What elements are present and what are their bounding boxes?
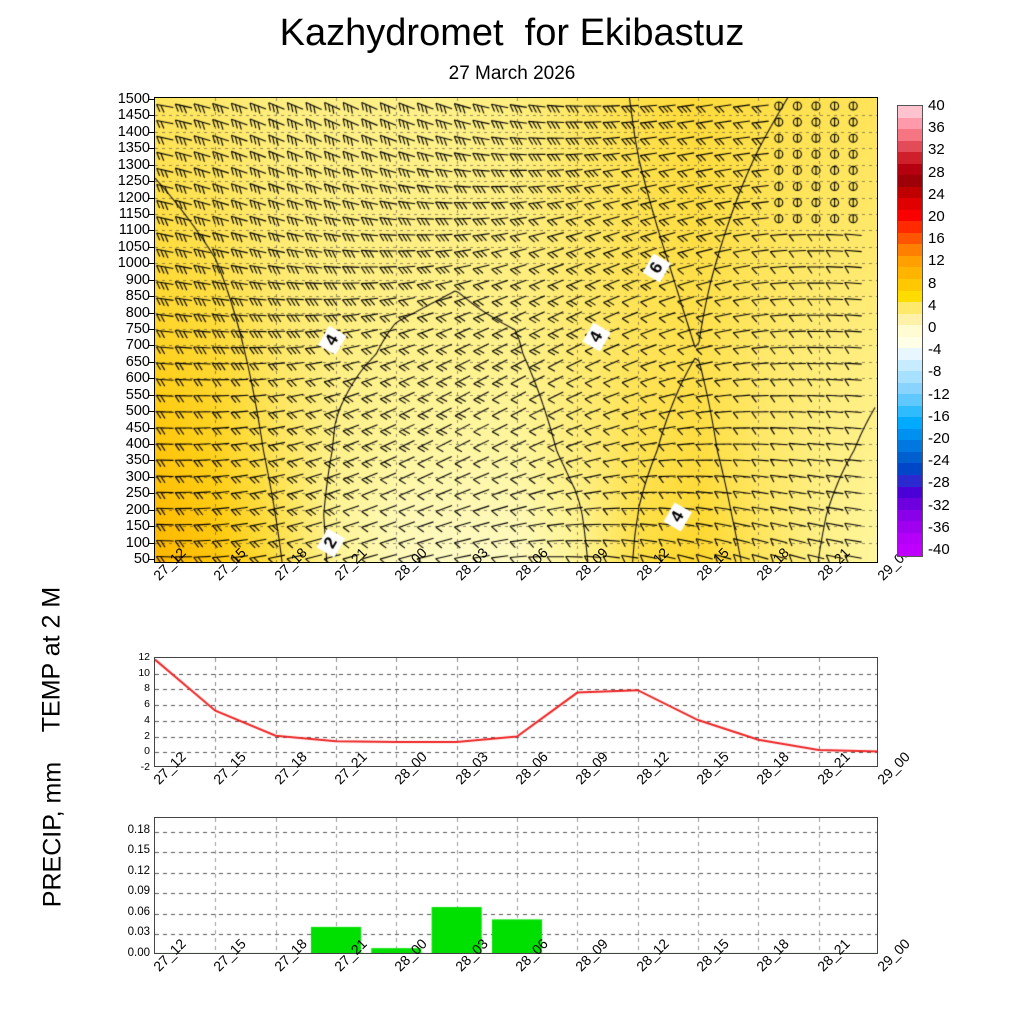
colorbar-swatch xyxy=(898,348,922,360)
colorbar-tick-label: -32 xyxy=(928,498,950,513)
colorbar-swatch xyxy=(898,406,922,418)
colorbar-swatch xyxy=(898,394,922,406)
precip-panel-plot[interactable] xyxy=(154,817,878,954)
colorbar-swatch xyxy=(898,198,922,210)
colorbar-swatch xyxy=(898,452,922,464)
colorbar-swatch xyxy=(898,314,922,326)
colorbar-tick-label: -36 xyxy=(928,520,950,535)
colorbar-swatch xyxy=(898,152,922,164)
height-tick-label: 1500 xyxy=(102,92,150,107)
temp-panel-canvas xyxy=(155,658,878,767)
height-tick-label: 850 xyxy=(102,289,150,304)
colorbar-tick-label: 32 xyxy=(928,142,945,157)
colorbar-tick-label: 40 xyxy=(928,98,945,113)
colorbar-swatch xyxy=(898,463,922,475)
colorbar-swatch xyxy=(898,429,922,441)
colorbar-swatch xyxy=(898,244,922,256)
height-tick-label: 1150 xyxy=(102,207,150,222)
height-tick-label: 250 xyxy=(102,486,150,501)
colorbar-swatch xyxy=(898,106,922,118)
height-tick-label: 1350 xyxy=(102,141,150,156)
height-tick-label: 1300 xyxy=(102,158,150,173)
cross-section-y-axis-labels: 1500145014001350130012501200115011001050… xyxy=(100,97,150,563)
height-tick-label: 100 xyxy=(102,536,150,551)
colorbar-swatch xyxy=(898,302,922,314)
cross-section-canvas xyxy=(155,98,878,563)
colorbar-swatch xyxy=(898,521,922,533)
temp-tick-label: 4 xyxy=(118,715,150,726)
temp-panel-plot[interactable] xyxy=(154,657,878,767)
colorbar-swatch xyxy=(898,510,922,522)
colorbar-swatch xyxy=(898,475,922,487)
colorbar-swatch xyxy=(898,487,922,499)
colorbar-swatch xyxy=(898,498,922,510)
temp-tick-label: 10 xyxy=(118,668,150,679)
height-tick-label: 1400 xyxy=(102,125,150,140)
colorbar-swatch xyxy=(898,175,922,187)
temp-panel-x-labels: 27_1227_1527_1827_2128_0028_0328_0628_09… xyxy=(154,770,914,820)
x-tick-label: 29_00 xyxy=(874,935,913,974)
height-tick-label: 600 xyxy=(102,371,150,386)
height-tick-label: 500 xyxy=(102,404,150,419)
cross-section-plot[interactable] xyxy=(154,97,878,563)
page-subtitle: 27 March 2026 xyxy=(0,63,1024,85)
temp-tick-label: 0 xyxy=(118,746,150,757)
precip-panel-canvas xyxy=(155,818,878,954)
colorbar-tick-label: 8 xyxy=(928,276,936,291)
colorbar-swatch xyxy=(898,383,922,395)
colorbar-tick-label: -24 xyxy=(928,453,950,468)
colorbar-swatch xyxy=(898,337,922,349)
precip-panel-axis-title: PRECIP, mm xyxy=(39,730,68,940)
precip-tick-label: 0.00 xyxy=(100,948,150,960)
colorbar-swatch xyxy=(898,533,922,545)
height-tick-label: 700 xyxy=(102,338,150,353)
precip-tick-label: 0.18 xyxy=(100,825,150,837)
colorbar-tick-label: 36 xyxy=(928,120,945,135)
height-tick-label: 200 xyxy=(102,503,150,518)
height-tick-label: 550 xyxy=(102,388,150,403)
precip-panel-x-labels: 27_1227_1527_1827_2128_0028_0328_0628_09… xyxy=(154,957,914,1007)
temp-tick-label: 2 xyxy=(118,731,150,742)
colorbar-swatch xyxy=(898,164,922,176)
colorbar-swatch xyxy=(898,221,922,233)
height-tick-label: 150 xyxy=(102,519,150,534)
cross-section-x-axis-labels: 27_1227_1527_1827_2128_0028_0328_0628_09… xyxy=(154,566,914,626)
height-tick-label: 750 xyxy=(102,322,150,337)
precip-tick-label: 0.12 xyxy=(100,866,150,878)
colorbar-tick-label: 0 xyxy=(928,320,936,335)
colorbar-tick-label: 4 xyxy=(928,298,936,313)
colorbar-tick-label: 12 xyxy=(928,253,945,268)
colorbar-tick-label: 24 xyxy=(928,187,945,202)
height-tick-label: 350 xyxy=(102,453,150,468)
height-tick-label: 400 xyxy=(102,437,150,452)
colorbar-swatch xyxy=(898,279,922,291)
colorbar-tick-label: -16 xyxy=(928,409,950,424)
colorbar-swatch xyxy=(898,210,922,222)
colorbar-tick-label: -40 xyxy=(928,542,950,557)
height-tick-label: 650 xyxy=(102,355,150,370)
height-tick-label: 450 xyxy=(102,421,150,436)
colorbar-tick-label: 16 xyxy=(928,231,945,246)
colorbar-swatch xyxy=(898,440,922,452)
colorbar-swatch xyxy=(898,291,922,303)
colorbar-swatch xyxy=(898,417,922,429)
colorbar-swatch xyxy=(898,141,922,153)
colorbar-swatch xyxy=(898,544,922,556)
height-tick-label: 900 xyxy=(102,273,150,288)
x-tick-label: 29_00 xyxy=(874,748,913,787)
height-tick-label: 1100 xyxy=(102,223,150,238)
colorbar-swatch xyxy=(898,267,922,279)
height-tick-label: 1450 xyxy=(102,108,150,123)
precip-tick-label: 0.09 xyxy=(100,886,150,898)
page-title: Kazhydromet for Ekibastuz xyxy=(0,12,1024,55)
colorbar-tick-label: 20 xyxy=(928,209,945,224)
height-tick-label: 1050 xyxy=(102,240,150,255)
height-tick-label: 50 xyxy=(102,552,150,567)
precip-panel-y-labels: 0.180.150.120.090.060.030.00 xyxy=(100,817,150,954)
temp-tick-label: 6 xyxy=(118,699,150,710)
colorbar-swatch xyxy=(898,325,922,337)
colorbar-labels: 4036322824201612840-4-8-12-16-20-24-28-3… xyxy=(928,97,998,567)
colorbar-swatch xyxy=(898,371,922,383)
height-tick-label: 1250 xyxy=(102,174,150,189)
colorbar-tick-label: -4 xyxy=(928,342,941,357)
height-tick-label: 800 xyxy=(102,306,150,321)
temp-panel-y-labels: 121086420-2 xyxy=(118,657,150,767)
temp-tick-label: -2 xyxy=(118,762,150,773)
colorbar-swatch xyxy=(898,360,922,372)
height-tick-label: 300 xyxy=(102,470,150,485)
precip-tick-label: 0.15 xyxy=(100,845,150,857)
temperature-colorbar xyxy=(897,105,923,557)
temp-tick-label: 12 xyxy=(118,652,150,663)
colorbar-tick-label: -8 xyxy=(928,364,941,379)
height-tick-label: 1200 xyxy=(102,191,150,206)
colorbar-swatch xyxy=(898,118,922,130)
colorbar-swatch xyxy=(898,187,922,199)
colorbar-tick-label: -28 xyxy=(928,475,950,490)
colorbar-tick-label: -12 xyxy=(928,387,950,402)
colorbar-tick-label: -20 xyxy=(928,431,950,446)
precip-tick-label: 0.06 xyxy=(100,907,150,919)
colorbar-tick-label: 28 xyxy=(928,165,945,180)
height-tick-label: 1000 xyxy=(102,256,150,271)
temp-tick-label: 8 xyxy=(118,683,150,694)
precip-tick-label: 0.03 xyxy=(100,927,150,939)
colorbar-swatch xyxy=(898,129,922,141)
colorbar-swatch xyxy=(898,256,922,268)
colorbar-swatch xyxy=(898,233,922,245)
